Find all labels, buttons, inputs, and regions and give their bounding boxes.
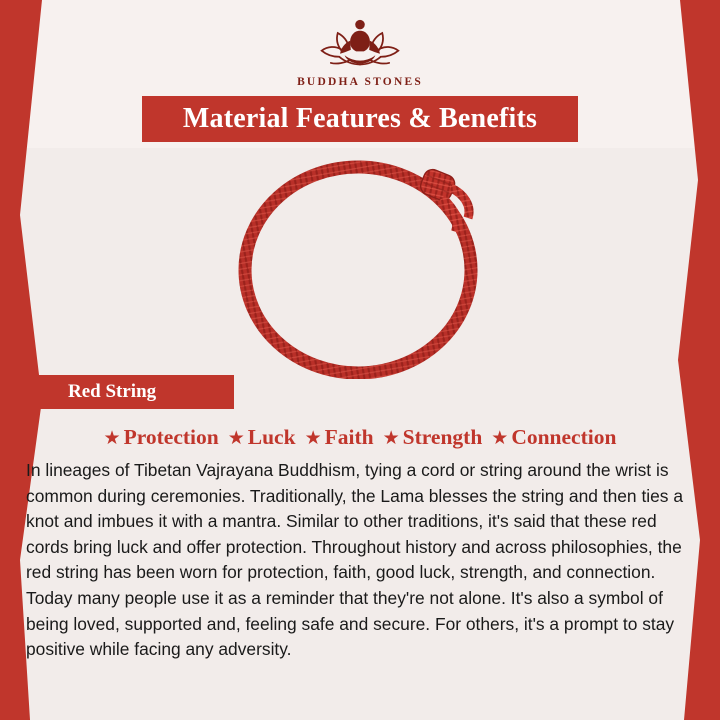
brand-name: BUDDHA STONES [297,76,423,88]
star-icon: ★ [491,429,508,448]
keyword-item: ★ Connection [491,425,616,450]
keyword-label: Luck [248,425,296,450]
page-title-banner: Material Features & Benefits [142,96,578,142]
product-image-area [60,150,660,382]
keyword-label: Strength [403,425,483,450]
product-label: Red String [68,381,156,403]
star-icon: ★ [104,429,121,448]
page-title: Material Features & Benefits [183,103,537,135]
keyword-label: Connection [511,425,616,450]
keyword-list: ★ Protection ★ Luck ★ Faith ★ Strength ★… [24,420,696,454]
keyword-item: ★ Strength [383,425,483,450]
keyword-item: ★ Protection [104,425,219,450]
keyword-item: ★ Faith [305,425,374,450]
red-braided-string-bracelet-illustration [210,154,510,379]
keyword-label: Faith [325,425,374,450]
keyword-label: Protection [124,425,219,450]
star-icon: ★ [383,429,400,448]
brand-logo: BUDDHA STONES [0,12,720,88]
keyword-item: ★ Luck [228,425,296,450]
infographic-page: BUDDHA STONES Material Features & Benefi… [0,0,720,720]
lotus-meditation-figure-icon [314,12,406,74]
description-paragraph: In lineages of Tibetan Vajrayana Buddhis… [26,458,694,663]
star-icon: ★ [228,429,245,448]
star-icon: ★ [305,429,322,448]
product-label-tab: Red String [38,375,234,409]
